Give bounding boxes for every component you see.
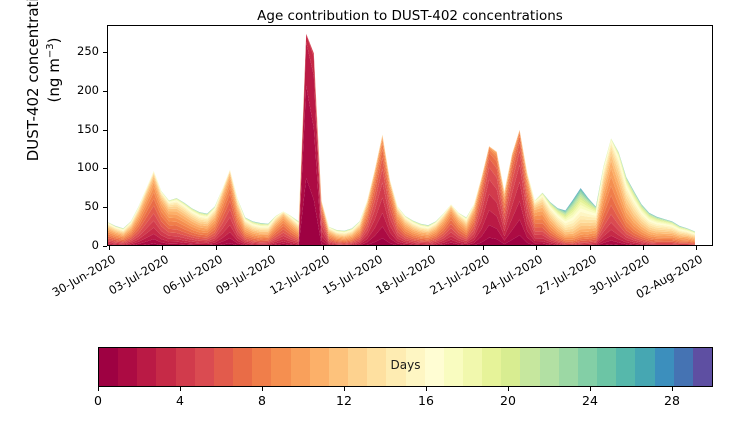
y-tick-label: 50	[84, 199, 99, 213]
colorbar-segment	[463, 348, 482, 386]
colorbar-segment	[559, 348, 578, 386]
colorbar-segment	[118, 348, 137, 386]
colorbar-segment	[444, 348, 463, 386]
colorbar-tick-label: 16	[418, 393, 434, 408]
y-tick-mark	[103, 91, 107, 92]
colorbar-tick-mark	[426, 387, 427, 391]
y-axis-label-line2: (ng m−3)	[42, 0, 63, 185]
x-tick-mark	[162, 246, 163, 250]
colorbar-tick-mark	[508, 387, 509, 391]
colorbar	[98, 347, 713, 387]
colorbar-tick-label: 28	[664, 393, 680, 408]
colorbar-tick-label: 4	[176, 393, 184, 408]
x-tick-mark	[696, 246, 697, 250]
x-tick-mark	[216, 246, 217, 250]
colorbar-tick-label: 24	[582, 393, 598, 408]
y-tick-mark	[103, 168, 107, 169]
x-tick-mark	[590, 246, 591, 250]
colorbar-segment	[425, 348, 444, 386]
colorbar-segment	[406, 348, 425, 386]
y-axis-label-exponent: −3	[45, 43, 56, 58]
colorbar-tick-label: 0	[94, 393, 102, 408]
colorbar-segment	[156, 348, 175, 386]
y-tick-label: 150	[77, 122, 99, 136]
y-tick-label: 200	[77, 83, 99, 97]
colorbar-segment	[616, 348, 635, 386]
y-tick-label: 0	[92, 238, 99, 252]
colorbar-tick-mark	[672, 387, 673, 391]
y-axis-label-line1: DUST-402 concentration	[24, 0, 42, 185]
colorbar-segment	[271, 348, 290, 386]
colorbar-segment	[176, 348, 195, 386]
x-tick-mark	[536, 246, 537, 250]
colorbar-tick-mark	[344, 387, 345, 391]
y-tick-label: 100	[77, 160, 99, 174]
colorbar-segment	[367, 348, 386, 386]
colorbar-segment	[329, 348, 348, 386]
colorbar-segment	[310, 348, 329, 386]
colorbar-segment	[214, 348, 233, 386]
colorbar-segment	[252, 348, 271, 386]
y-tick-label: 250	[77, 44, 99, 58]
page-title: Age contribution to DUST-402 concentrati…	[107, 8, 713, 24]
colorbar-segment	[233, 348, 252, 386]
y-tick-mark	[103, 130, 107, 131]
x-tick-mark	[429, 246, 430, 250]
colorbar-tick-mark	[590, 387, 591, 391]
colorbar-segment	[655, 348, 674, 386]
colorbar-segment	[137, 348, 156, 386]
x-tick-mark	[643, 246, 644, 250]
x-tick-mark	[269, 246, 270, 250]
colorbar-segment	[99, 348, 118, 386]
colorbar-segment	[291, 348, 310, 386]
y-tick-mark	[103, 207, 107, 208]
colorbar-tick-mark	[180, 387, 181, 391]
x-tick-mark	[109, 246, 110, 250]
colorbar-segment	[597, 348, 616, 386]
colorbar-segment	[578, 348, 597, 386]
colorbar-segment	[501, 348, 520, 386]
y-axis-label-paren: )	[45, 38, 63, 44]
colorbar-segment	[635, 348, 654, 386]
colorbar-segment	[540, 348, 559, 386]
y-axis-label-units: (ng m	[45, 58, 63, 102]
chart-figure: Age contribution to DUST-402 concentrati…	[0, 0, 730, 425]
x-tick-mark	[323, 246, 324, 250]
colorbar-tick-label: 12	[336, 393, 352, 408]
y-tick-mark	[103, 246, 107, 247]
colorbar-segment	[693, 348, 712, 386]
plot-area	[107, 25, 713, 246]
colorbar-segment	[674, 348, 693, 386]
colorbar-tick-label: 8	[258, 393, 266, 408]
colorbar-segment	[482, 348, 501, 386]
colorbar-tick-mark	[262, 387, 263, 391]
y-tick-mark	[103, 52, 107, 53]
y-axis-label: DUST-402 concentration (ng m−3)	[24, 0, 54, 185]
colorbar-segment	[386, 348, 405, 386]
x-tick-mark	[376, 246, 377, 250]
stacked-area-svg	[108, 26, 713, 246]
x-tick-mark	[483, 246, 484, 250]
colorbar-segment	[520, 348, 539, 386]
colorbar-tick-mark	[98, 387, 99, 391]
colorbar-segment	[348, 348, 367, 386]
colorbar-segment	[195, 348, 214, 386]
colorbar-tick-label: 20	[500, 393, 516, 408]
